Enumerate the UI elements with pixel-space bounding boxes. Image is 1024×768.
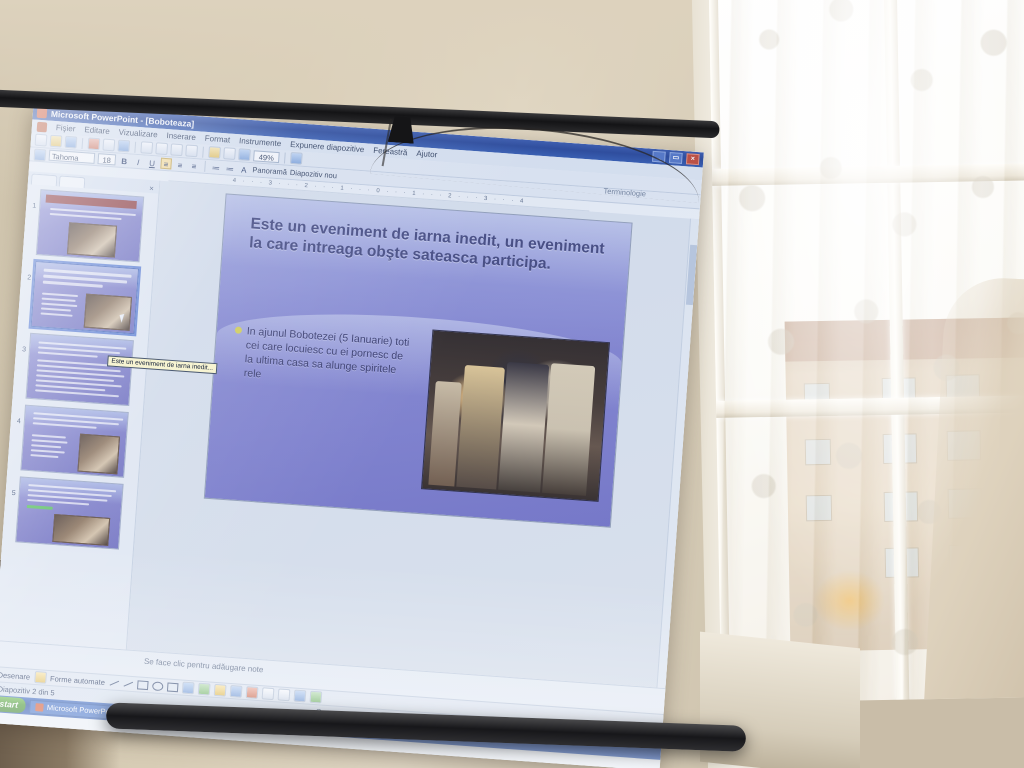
align-center-button[interactable]: ≡ [174, 159, 186, 171]
zoom-combo[interactable]: 49% [253, 150, 280, 163]
picture-icon[interactable] [229, 685, 242, 698]
scrollbar-thumb[interactable] [686, 245, 697, 305]
thumbnail-photo [52, 514, 110, 546]
slide-thumbnail-1[interactable] [36, 189, 144, 262]
paste-icon[interactable] [170, 143, 183, 156]
thumbnail-photo [67, 222, 117, 257]
menu-item-instrumente[interactable]: Instrumente [239, 136, 282, 148]
thumbnail-number: 4 [14, 404, 22, 425]
oval-icon[interactable] [152, 681, 164, 691]
menu-item-inserare[interactable]: Inserare [166, 131, 196, 142]
thumbnail-number: 2 [24, 260, 32, 281]
redo-icon[interactable] [223, 147, 236, 160]
cut-icon[interactable] [140, 141, 153, 154]
slide-thumbnail-2[interactable] [31, 261, 139, 334]
new-slide-button[interactable]: Diapozitiv nou [290, 168, 338, 180]
undo-icon[interactable] [208, 146, 221, 159]
arrow-icon[interactable] [123, 681, 133, 686]
menu-item-vizualizare[interactable]: Vizualizare [118, 128, 158, 140]
align-left-button[interactable]: ≡ [160, 158, 172, 170]
thumbnail-photo [84, 294, 132, 331]
menu-item-format[interactable]: Format [205, 134, 231, 145]
menu-item-editare[interactable]: Editare [84, 125, 110, 136]
grow-font-button[interactable]: A [238, 163, 250, 175]
spelling-icon[interactable] [117, 140, 130, 153]
current-slide[interactable]: Este un eveniment de iarna inedit, un ev… [204, 193, 633, 527]
save-icon[interactable] [65, 136, 78, 149]
underline-button[interactable]: U [146, 157, 158, 169]
numbered-list-button[interactable]: ≔ [210, 161, 222, 173]
list-item[interactable]: 2 [21, 260, 150, 335]
slide-edit-area: Este un eveniment de iarna inedit, un ev… [127, 181, 699, 688]
bulleted-list-button[interactable]: ≔ [224, 162, 236, 174]
italic-button[interactable]: I [132, 156, 144, 168]
menu-item-fisier[interactable]: Fişier [56, 123, 76, 133]
document-icon [37, 121, 48, 132]
format-painter-icon[interactable] [185, 144, 198, 157]
clip-art-icon[interactable] [213, 684, 226, 697]
thumbnail-number: 3 [19, 332, 27, 353]
slide-thumbnail-5[interactable] [15, 476, 123, 549]
powerpoint-icon [36, 703, 45, 712]
start-button[interactable]: start [0, 696, 26, 713]
line-icon[interactable] [109, 680, 119, 685]
room-scene: Microsoft PowerPoint - [Boboteaza] _ ▭ ×… [0, 0, 1024, 768]
list-item[interactable]: 5 [5, 476, 134, 551]
diagram-icon[interactable] [197, 683, 210, 696]
list-item[interactable]: 1 [26, 188, 155, 263]
insert-table-icon[interactable] [238, 148, 251, 161]
print-icon[interactable] [87, 137, 100, 150]
list-item[interactable]: 4 [10, 404, 139, 479]
font-color-icon[interactable] [277, 688, 290, 701]
list-item[interactable]: 3 [16, 332, 145, 407]
help-icon[interactable] [290, 152, 303, 165]
3d-style-icon[interactable] [309, 691, 322, 704]
open-icon[interactable] [50, 135, 63, 148]
draw-menu-button[interactable]: Desenare [0, 670, 30, 681]
fill-color-icon[interactable] [245, 686, 258, 699]
autoshapes-menu-button[interactable]: Forme automate [50, 674, 106, 687]
rectangle-icon[interactable] [137, 680, 149, 690]
slide-body-text[interactable]: In ajunul Bobotezei (5 Ianuarie) toti ce… [243, 324, 415, 392]
font-name-combo[interactable]: Tahoma [49, 150, 96, 164]
align-right-button[interactable]: ≡ [188, 160, 200, 172]
line-color-icon[interactable] [261, 687, 274, 700]
slide-thumbnail-3[interactable] [25, 333, 133, 406]
new-icon[interactable] [35, 134, 48, 147]
slide-thumbnail-4[interactable] [20, 405, 128, 478]
close-icon[interactable]: × [149, 184, 156, 193]
powerpoint-window: Microsoft PowerPoint - [Boboteaza] _ ▭ ×… [0, 104, 704, 768]
thumbnail-number: 5 [8, 476, 16, 497]
print-preview-icon[interactable] [102, 139, 115, 152]
font-size-combo[interactable]: 18 [97, 153, 116, 165]
close-button[interactable]: × [686, 153, 700, 165]
vertical-scrollbar[interactable] [656, 219, 699, 688]
window [709, 0, 1024, 703]
text-box-icon[interactable] [167, 682, 179, 692]
wordart-icon[interactable] [181, 682, 194, 695]
slide-layout-icon[interactable] [34, 148, 47, 161]
thumbnail-number: 1 [29, 188, 37, 209]
projection-screen: Microsoft PowerPoint - [Boboteaza] _ ▭ ×… [0, 73, 760, 768]
restore-button[interactable]: ▭ [669, 152, 683, 164]
workspace: × 1 [0, 171, 699, 688]
copy-icon[interactable] [155, 142, 168, 155]
slide-photo[interactable] [421, 330, 610, 502]
design-button[interactable]: Panoramă [252, 165, 287, 176]
select-objects-icon[interactable] [34, 671, 47, 684]
bold-button[interactable]: B [118, 155, 130, 167]
thumbnail-photo [77, 434, 120, 475]
shadow-style-icon[interactable] [293, 690, 306, 703]
